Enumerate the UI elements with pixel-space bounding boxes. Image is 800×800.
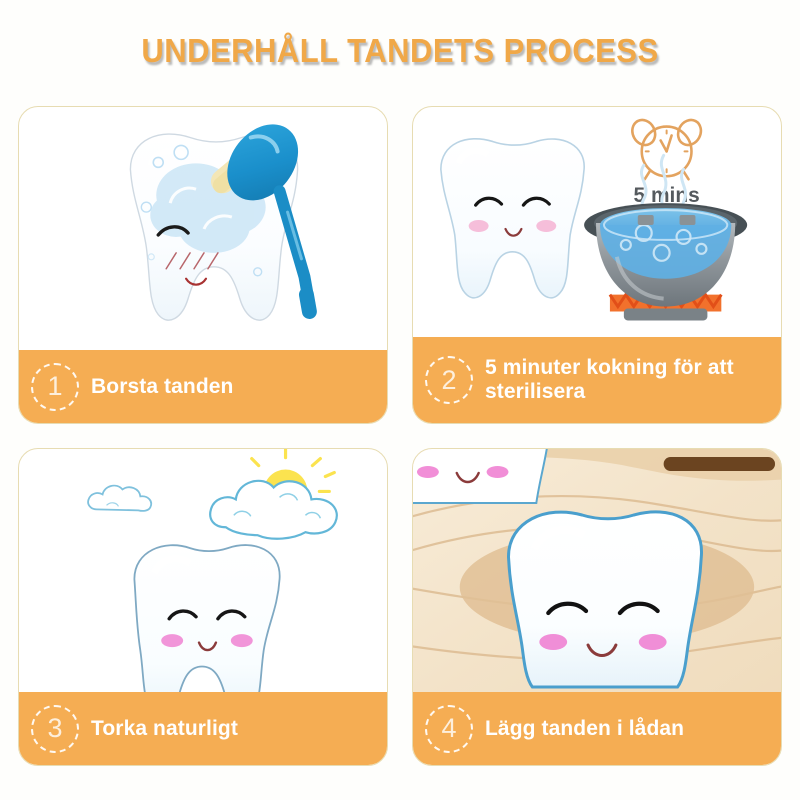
tooth-in-box-illustration xyxy=(413,449,781,694)
drying-tooth-illustration xyxy=(19,449,387,694)
step-4-label: Lägg tanden i lådan xyxy=(485,717,684,741)
tooth-shape xyxy=(441,139,584,298)
step-1-footer[interactable]: 1 Borsta tanden xyxy=(19,350,387,423)
step-4-illustration xyxy=(413,449,781,694)
step-1-illustration xyxy=(19,107,387,352)
step-1-number: 1 xyxy=(31,363,79,411)
page-title: UNDERHÅLL TANDETS PROCESS xyxy=(24,32,776,70)
large-cloud-icon xyxy=(210,481,337,539)
small-cloud-icon xyxy=(88,486,151,511)
box-edge-bar xyxy=(664,457,775,471)
page-root: UNDERHÅLL TANDETS PROCESS xyxy=(0,0,800,800)
tooth-shape xyxy=(134,545,279,694)
tooth-shape xyxy=(508,512,701,687)
cooking-pot-icon xyxy=(584,203,747,320)
step-4-number: 4 xyxy=(425,705,473,753)
step-card-2[interactable]: 5 mins xyxy=(412,106,782,424)
partial-tooth-shape xyxy=(413,449,550,503)
step-2-label: 5 minuter kokning för att sterilisera xyxy=(485,356,781,403)
step-3-label: Torka naturligt xyxy=(91,717,238,741)
step-card-3[interactable]: 3 Torka naturligt xyxy=(18,448,388,766)
brushing-tooth-illustration xyxy=(19,107,387,352)
step-2-number: 2 xyxy=(425,356,473,404)
step-3-illustration xyxy=(19,449,387,694)
step-card-1[interactable]: 1 Borsta tanden xyxy=(18,106,388,424)
boiling-pot-illustration: 5 mins xyxy=(413,107,781,339)
step-3-footer[interactable]: 3 Torka naturligt xyxy=(19,692,387,765)
step-2-illustration: 5 mins xyxy=(413,107,781,339)
step-card-4[interactable]: 4 Lägg tanden i lådan xyxy=(412,448,782,766)
alarm-clock-icon xyxy=(628,116,705,179)
step-4-footer[interactable]: 4 Lägg tanden i lådan xyxy=(413,692,781,765)
step-3-number: 3 xyxy=(31,705,79,753)
step-2-footer[interactable]: 2 5 minuter kokning för att sterilisera xyxy=(413,337,781,423)
step-1-label: Borsta tanden xyxy=(91,375,234,399)
steps-grid: 1 Borsta tanden xyxy=(18,106,782,778)
